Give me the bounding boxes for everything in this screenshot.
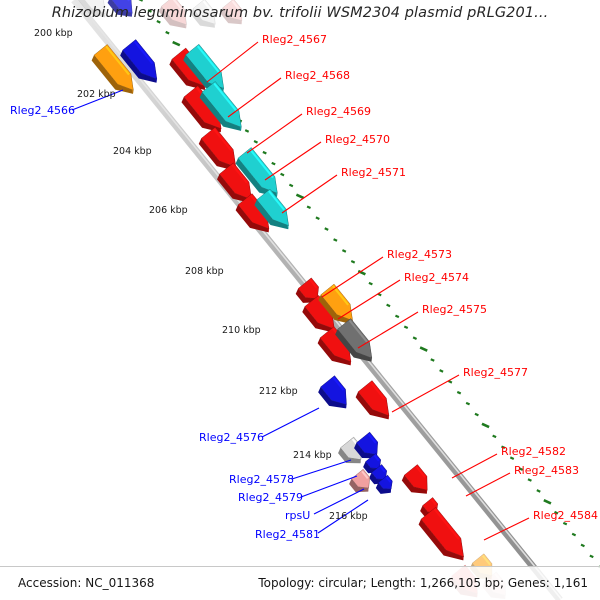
ruler-tick-label: 206 kbp — [149, 205, 188, 216]
status-bar-divider — [0, 566, 600, 567]
gene-label-rleg2_4570[interactable]: Rleg2_4570 — [325, 133, 390, 146]
gene-label-rleg2_4571[interactable]: Rleg2_4571 — [341, 166, 406, 179]
gene-label-rleg2_4579[interactable]: Rleg2_4579 — [238, 491, 303, 504]
status-bar: Accession: NC_011368 Topology: circular;… — [0, 566, 600, 600]
gene-label-rleg2_4568[interactable]: Rleg2_4568 — [285, 69, 350, 82]
genome-summary-text: Topology: circular; Length: 1,266,105 bp… — [258, 576, 588, 590]
gene-label-rleg2_4574[interactable]: Rleg2_4574 — [404, 271, 469, 284]
ruler-tick-label: 210 kbp — [222, 325, 261, 336]
ruler-tick-label: 214 kbp — [293, 450, 332, 461]
ruler-tick-label: 200 kbp — [34, 28, 73, 39]
ruler-tick-label: 216 kbp — [329, 511, 368, 522]
gene-label-rleg2_4576[interactable]: Rleg2_4576 — [199, 431, 264, 444]
gene-arrow[interactable] — [317, 376, 356, 416]
gene-label-rleg2_4573[interactable]: Rleg2_4573 — [387, 248, 452, 261]
gene-label-rleg2_4577[interactable]: Rleg2_4577 — [463, 366, 528, 379]
gene-label-rleg2_4584[interactable]: Rleg2_4584 — [533, 509, 598, 522]
ruler-tick-label: 202 kbp — [77, 89, 116, 100]
gene-label-rleg2_4567[interactable]: Rleg2_4567 — [262, 33, 327, 46]
gene-arrow[interactable] — [417, 507, 473, 568]
gene-label-rleg2_4569[interactable]: Rleg2_4569 — [306, 105, 371, 118]
gene-label-rleg2_4581[interactable]: Rleg2_4581 — [255, 528, 320, 541]
gene-label-rleg2_4582[interactable]: Rleg2_4582 — [501, 445, 566, 458]
gene-label-rpsu[interactable]: rpsU — [285, 509, 310, 522]
ruler-tick-label: 208 kbp — [185, 266, 224, 277]
ruler-tick-label: 204 kbp — [113, 146, 152, 157]
gene-label-rleg2_4583[interactable]: Rleg2_4583 — [514, 464, 579, 477]
gene-arrow[interactable] — [106, 0, 140, 23]
gene-arrow[interactable] — [189, 0, 223, 34]
gene-arrow[interactable] — [400, 465, 435, 501]
accession-text: Accession: NC_011368 — [18, 576, 154, 590]
genome-map-viewer[interactable]: 200 kbp202 kbp204 kbp206 kbp208 kbp210 k… — [0, 0, 600, 600]
gene-arrow[interactable] — [219, 0, 249, 30]
gene-label-rleg2_4578[interactable]: Rleg2_4578 — [229, 473, 294, 486]
gene-label-rleg2_4575[interactable]: Rleg2_4575 — [422, 303, 487, 316]
ruler-tick-label: 212 kbp — [259, 386, 298, 397]
gene-arrow[interactable] — [157, 0, 194, 35]
gene-label-rleg2_4566[interactable]: Rleg2_4566 — [10, 104, 75, 117]
